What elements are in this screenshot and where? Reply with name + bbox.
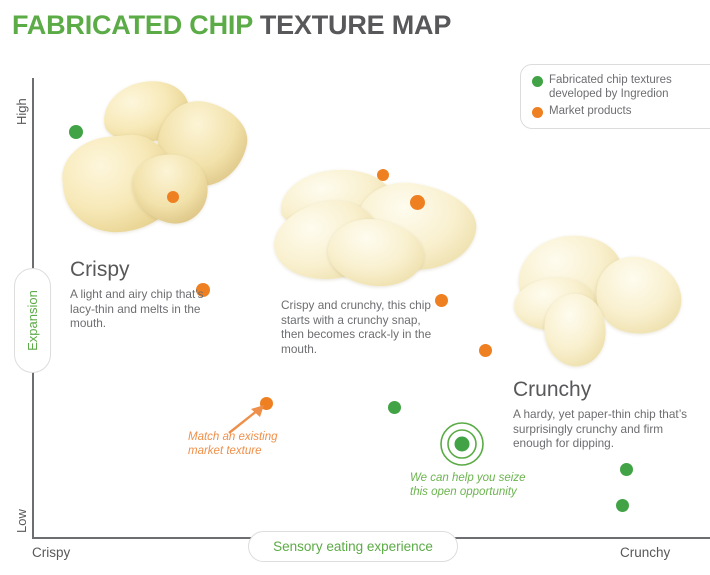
data-point-green[interactable] [620, 463, 633, 476]
block-heading: Crunchy [513, 378, 688, 402]
data-point-orange[interactable] [167, 191, 179, 203]
annotation-match-texture: Match an existing market texture [188, 430, 298, 458]
legend-item-fabricated: Fabricated chip textures developed by In… [532, 74, 710, 101]
x-axis-left-label: Crispy [32, 545, 70, 560]
page-title-primary: FABRICATED CHIP [12, 10, 253, 40]
text-block-crispy: Crispy A light and airy chip that’s lacy… [70, 258, 205, 331]
text-block-middle: Crispy and crunchy, this chip starts wit… [281, 298, 434, 356]
data-point-green[interactable] [616, 499, 629, 512]
block-body: A light and airy chip that’s lacy-thin a… [70, 287, 205, 331]
y-axis-low-label: Low [14, 509, 29, 533]
data-point-orange[interactable] [377, 169, 389, 181]
texture-map-infographic: FABRICATED CHIP TEXTURE MAP Fabricated c… [0, 0, 710, 575]
data-point-green[interactable] [69, 125, 83, 139]
legend: Fabricated chip textures developed by In… [520, 64, 710, 129]
x-axis-right-label: Crunchy [620, 545, 670, 560]
data-point-orange[interactable] [410, 195, 425, 210]
green-dot-icon [532, 76, 543, 87]
chip-cluster-crispy [58, 80, 258, 250]
bullseye-target-icon[interactable] [439, 421, 485, 467]
page-title-secondary: TEXTURE MAP [260, 10, 451, 40]
block-body: Crispy and crunchy, this chip starts wit… [281, 298, 434, 356]
page-title: FABRICATED CHIP TEXTURE MAP [12, 10, 451, 41]
y-axis-title: Expansion [25, 290, 40, 351]
y-axis-high-label: High [14, 98, 29, 125]
data-point-green[interactable] [388, 401, 401, 414]
y-axis-title-pill: Expansion [14, 268, 51, 373]
x-axis-title-pill: Sensory eating experience [248, 531, 458, 562]
data-point-orange[interactable] [479, 344, 492, 357]
data-point-orange[interactable] [435, 294, 448, 307]
annotation-open-opportunity: We can help you seize this open opportun… [410, 471, 540, 499]
chip-cluster-crunchy [508, 232, 688, 372]
orange-dot-icon [532, 107, 543, 118]
legend-item-label: Fabricated chip textures developed by In… [549, 74, 710, 101]
legend-item-label: Market products [549, 105, 631, 119]
chip-cluster-middle [280, 168, 480, 298]
x-axis-title: Sensory eating experience [273, 539, 433, 554]
legend-item-market: Market products [532, 105, 710, 119]
block-heading: Crispy [70, 258, 205, 282]
text-block-crunchy: Crunchy A hardy, yet paper-thin chip tha… [513, 378, 688, 451]
block-body: A hardy, yet paper-thin chip that’s surp… [513, 407, 688, 451]
